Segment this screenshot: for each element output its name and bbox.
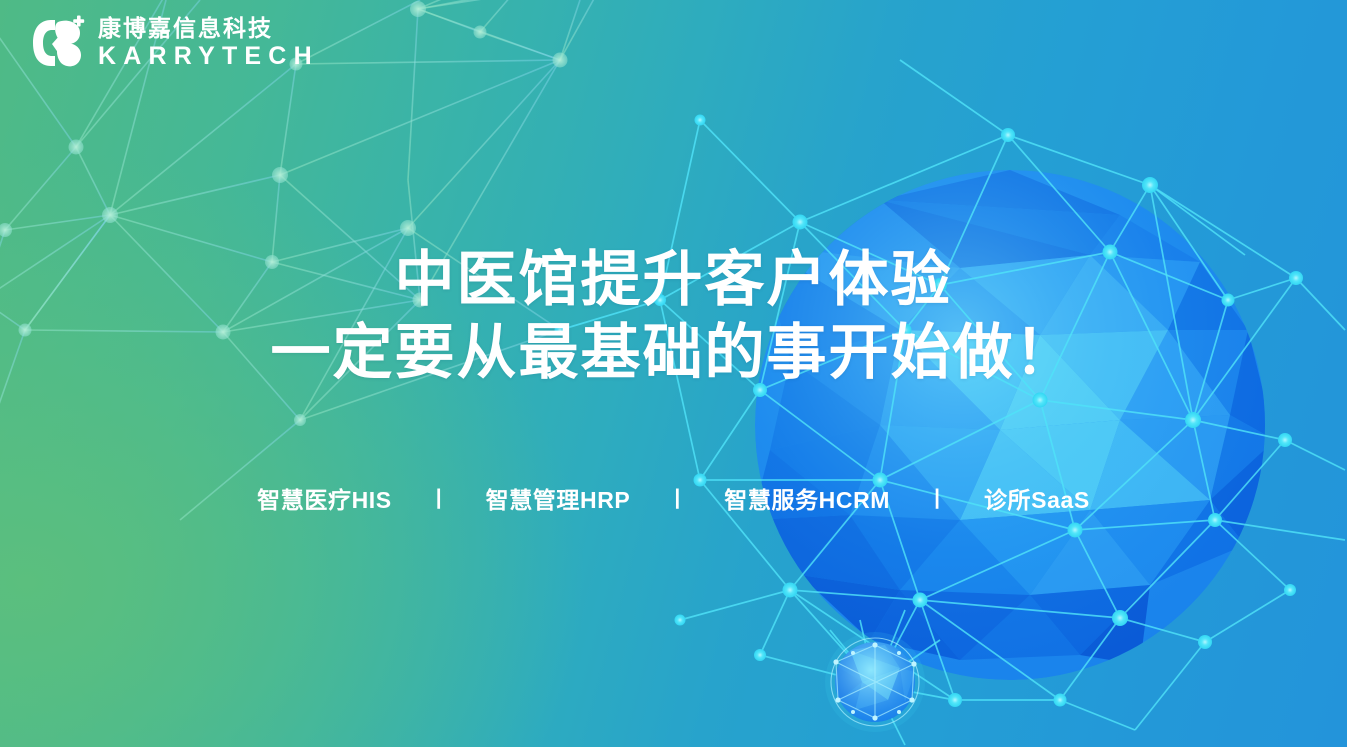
brand-logo[interactable]: 康博嘉信息科技 KARRYTECH	[28, 14, 319, 72]
brand-name-cn: 康博嘉信息科技	[98, 16, 319, 42]
product-item-hcrm: 智慧服务HCRM	[724, 481, 890, 515]
separator-2: |	[674, 486, 680, 510]
separator-3: |	[934, 486, 940, 510]
separator-1: |	[436, 486, 442, 510]
product-item-his: 智慧医疗HIS	[257, 481, 392, 515]
brand-wordmark: 康博嘉信息科技 KARRYTECH	[98, 16, 319, 70]
product-item-saas: 诊所SaaS	[984, 481, 1090, 515]
slide-canvas: 康博嘉信息科技 KARRYTECH 中医馆提升客户体验 一定要从最基础的事开始做…	[0, 0, 1347, 747]
product-list: 智慧医疗HIS | 智慧管理HRP | 智慧服务HCRM | 诊所SaaS	[0, 481, 1347, 515]
product-item-hrp: 智慧管理HRP	[486, 481, 631, 515]
brand-name-en: KARRYTECH	[98, 42, 319, 70]
small-network-globe	[0, 0, 1347, 747]
karrytech-k-plus-logo	[28, 14, 86, 72]
